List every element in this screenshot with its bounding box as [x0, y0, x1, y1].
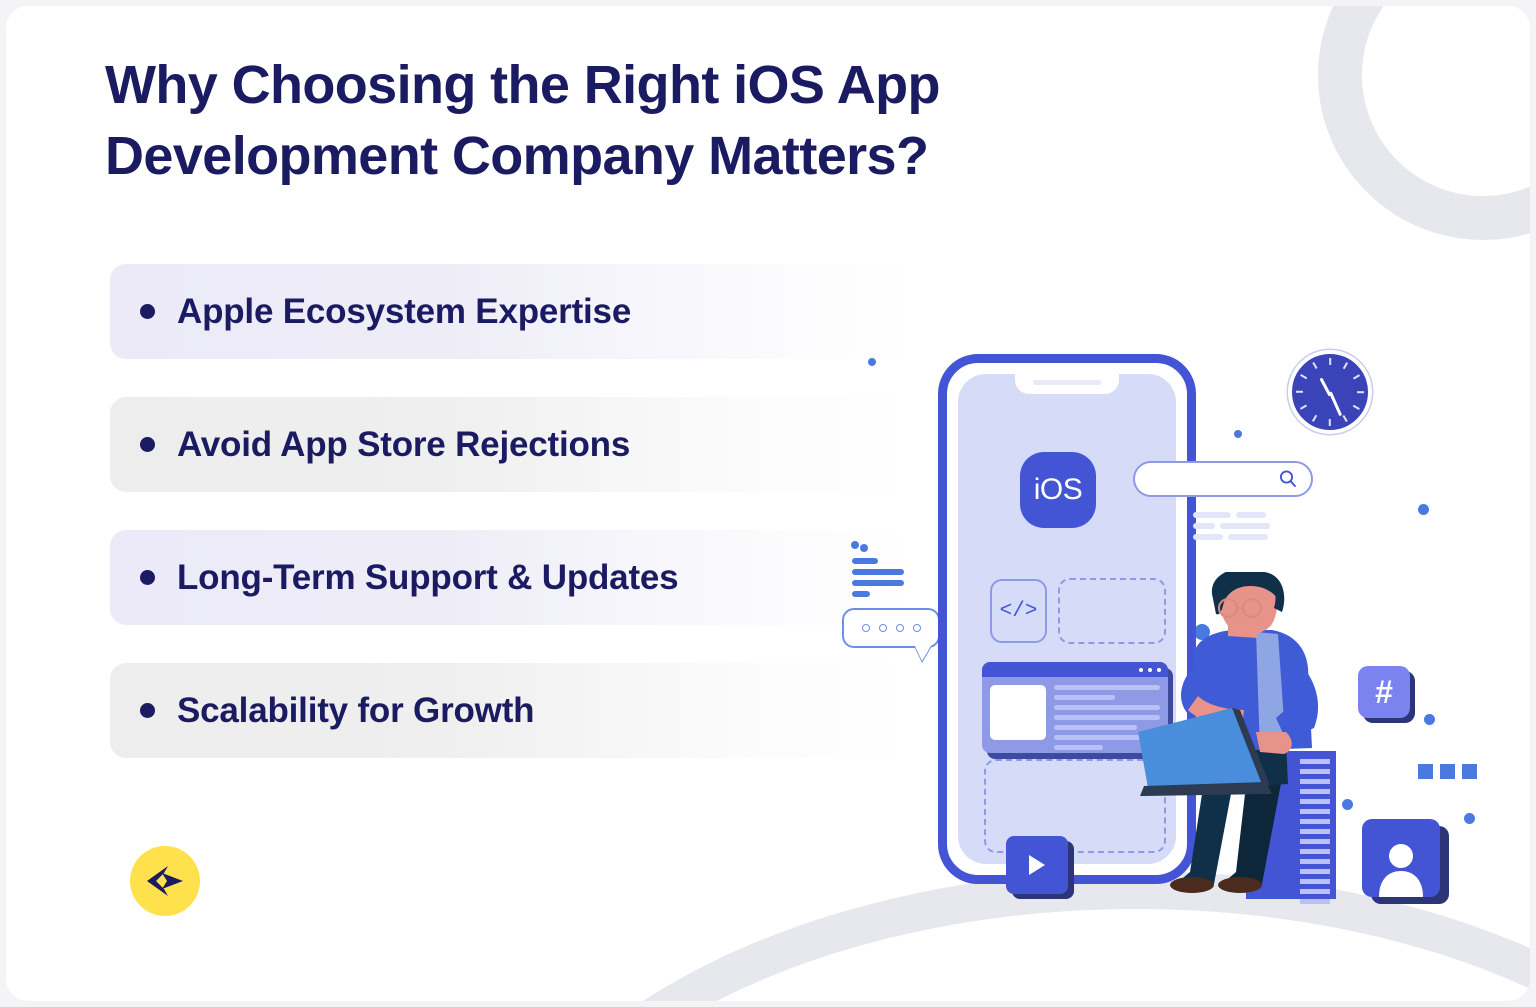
bullet-icon	[140, 304, 155, 319]
chat-bubble-icon	[842, 608, 940, 648]
list-item: Long-Term Support & Updates	[110, 530, 910, 625]
code-icon: </>	[990, 579, 1047, 643]
decor-dot	[868, 358, 876, 366]
bullet-icon	[140, 437, 155, 452]
decor-dot	[1418, 504, 1429, 515]
list-item: Avoid App Store Rejections	[110, 397, 910, 492]
list-item: Scalability for Growth	[110, 663, 910, 758]
search-icon	[1278, 469, 1298, 489]
person-icon	[1375, 839, 1427, 897]
list-item-label: Long-Term Support & Updates	[177, 558, 678, 598]
list-item-label: Apple Ecosystem Expertise	[177, 292, 631, 332]
chat-bubble-tail	[914, 644, 932, 661]
decor-dot	[1424, 714, 1435, 725]
ios-app-icon: iOS	[1020, 452, 1096, 528]
phone-notch	[1015, 374, 1119, 394]
three-squares-decor	[1418, 764, 1477, 779]
decorative-ring	[1318, 6, 1530, 240]
search-input[interactable]	[1133, 461, 1313, 497]
infographic-card: Why Choosing the Right iOS App Developme…	[6, 6, 1530, 1001]
bullet-icon	[140, 570, 155, 585]
clock-icon	[1288, 350, 1372, 434]
developer-with-laptop	[1136, 572, 1396, 902]
bullet-icon	[140, 703, 155, 718]
brand-logo	[130, 846, 200, 916]
message-lines	[852, 558, 908, 602]
decor-dot	[1234, 430, 1242, 438]
decor-dot	[1464, 813, 1475, 824]
list-item-label: Scalability for Growth	[177, 691, 534, 731]
arrow-logo-icon	[143, 864, 187, 898]
play-icon	[1026, 853, 1048, 877]
decor-dot	[860, 544, 868, 552]
benefits-list: Apple Ecosystem Expertise Avoid App Stor…	[110, 264, 910, 796]
list-item-label: Avoid App Store Rejections	[177, 425, 630, 465]
list-item: Apple Ecosystem Expertise	[110, 264, 910, 359]
text-placeholder-lines	[1193, 512, 1271, 545]
user-avatar-badge	[1362, 819, 1440, 897]
decor-dot	[851, 541, 859, 549]
page-title: Why Choosing the Right iOS App Developme…	[105, 50, 1185, 193]
window-thumbnail	[990, 685, 1046, 740]
hashtag-badge: #	[1358, 666, 1410, 718]
illustration: iOS </>	[846, 336, 1526, 916]
play-button[interactable]	[1006, 836, 1068, 894]
